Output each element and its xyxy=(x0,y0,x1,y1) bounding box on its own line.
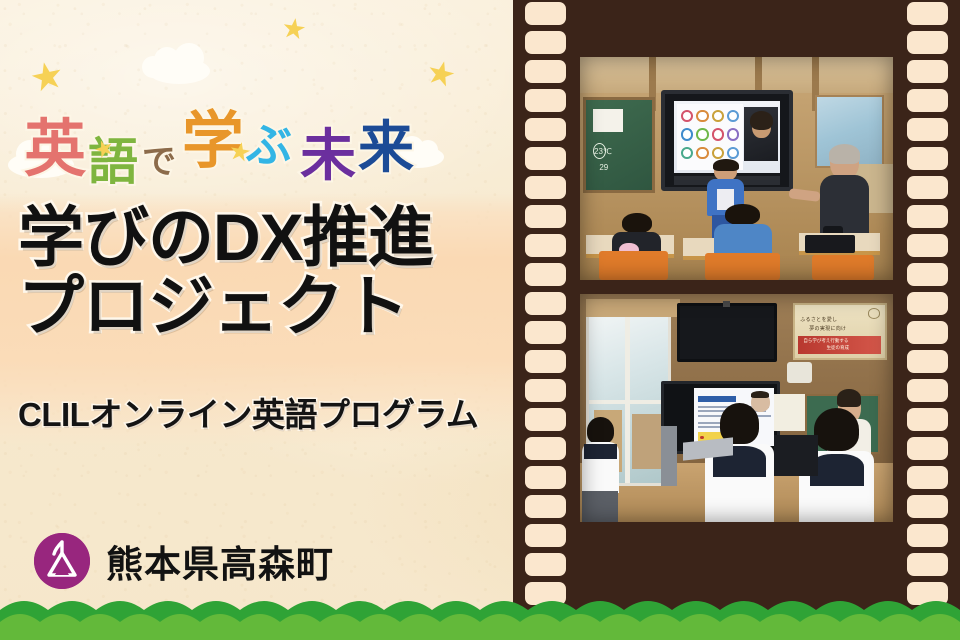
sprocket-hole xyxy=(907,321,948,344)
page-subtitle: CLILオンライン英語プログラム xyxy=(0,388,513,436)
sprocket-hole xyxy=(525,292,566,315)
sprocket-hole xyxy=(907,263,948,286)
sprocket-hole xyxy=(907,89,948,112)
sprocket-hole xyxy=(525,350,566,373)
sprocket-hole xyxy=(907,2,948,25)
town-name-label: 熊本県高森町 xyxy=(106,534,334,588)
sprocket-hole xyxy=(907,292,948,315)
sprocket-hole xyxy=(907,31,948,54)
sprocket-hole xyxy=(525,263,566,286)
sprocket-hole xyxy=(907,118,948,141)
sprocket-hole xyxy=(907,408,948,431)
sprocket-column-right xyxy=(901,0,954,640)
sprocket-hole xyxy=(525,89,566,112)
takamori-town-emblem-icon xyxy=(34,533,90,589)
headline-line-1: 学びのDX推進 xyxy=(18,205,513,270)
sprocket-hole xyxy=(525,524,566,547)
poster-canvas: 英 語 で 学 ぶ 未 来 学びのDX推進 プロジェクト CLILオンライン英語… xyxy=(0,0,960,640)
sprocket-hole xyxy=(525,495,566,518)
footer-branding: 熊本県高森町 xyxy=(34,533,334,589)
sprocket-hole xyxy=(525,31,566,54)
sprocket-hole xyxy=(907,60,948,83)
sprocket-hole xyxy=(907,437,948,460)
photo-elementary-online-english-lesson: 23℃ 29 xyxy=(580,57,893,280)
sprocket-hole xyxy=(525,379,566,402)
decorative-title: 英 語 で 学 ぶ 未 来 xyxy=(0,80,513,180)
film-strip: 23℃ 29 xyxy=(513,0,960,640)
sprocket-hole xyxy=(525,234,566,257)
sprocket-hole xyxy=(525,176,566,199)
sprocket-hole xyxy=(525,60,566,83)
title-char-gaku: 学 xyxy=(182,113,244,172)
photo-junior-high-online-english-lesson: ふるさとを愛し 夢の実現に向け 自ら学び考え行動する 生徒の育成 xyxy=(580,294,893,522)
star-icon xyxy=(282,17,307,42)
sprocket-hole xyxy=(525,437,566,460)
sprocket-hole xyxy=(907,147,948,170)
sprocket-hole xyxy=(907,350,948,373)
sprocket-hole xyxy=(907,553,948,576)
left-content-panel: 英 語 で 学 ぶ 未 来 学びのDX推進 プロジェクト CLILオンライン英語… xyxy=(0,0,513,640)
banner-line-3: 自ら学び考え行動する xyxy=(803,338,848,344)
page-title: 学びのDX推進 プロジェクト xyxy=(0,205,513,338)
sprocket-hole xyxy=(907,495,948,518)
sprocket-hole xyxy=(907,379,948,402)
sprocket-hole xyxy=(907,234,948,257)
sprocket-hole xyxy=(525,321,566,344)
banner-line-2: 夢の実現に向け xyxy=(809,325,846,332)
sprocket-hole xyxy=(525,205,566,228)
photo-frame-elementary: 23℃ 29 xyxy=(580,57,893,280)
sprocket-hole xyxy=(525,118,566,141)
sprocket-hole xyxy=(525,147,566,170)
title-char-mi: 未 xyxy=(300,129,356,182)
headline-line-2: プロジェクト xyxy=(18,274,513,339)
sprocket-hole xyxy=(907,176,948,199)
title-char-ei: 英 xyxy=(24,121,86,180)
sprocket-hole xyxy=(907,524,948,547)
sprocket-hole xyxy=(907,205,948,228)
sprocket-hole xyxy=(907,466,948,489)
banner-line-4: 生徒の育成 xyxy=(827,345,850,351)
banner-line-1: ふるさとを愛し xyxy=(800,316,837,323)
title-char-bu: ぶ xyxy=(246,124,292,168)
sprocket-hole xyxy=(525,466,566,489)
photo-frame-junior-high: ふるさとを愛し 夢の実現に向け 自ら学び考え行動する 生徒の育成 xyxy=(580,294,893,522)
title-char-de: で xyxy=(142,146,176,178)
title-char-go: 語 xyxy=(88,139,138,187)
sprocket-column-left xyxy=(519,0,572,640)
grass-decoration xyxy=(0,588,960,640)
sprocket-hole xyxy=(525,408,566,431)
sprocket-hole xyxy=(525,553,566,576)
sprocket-hole xyxy=(525,2,566,25)
title-char-rai: 来 xyxy=(358,121,414,174)
